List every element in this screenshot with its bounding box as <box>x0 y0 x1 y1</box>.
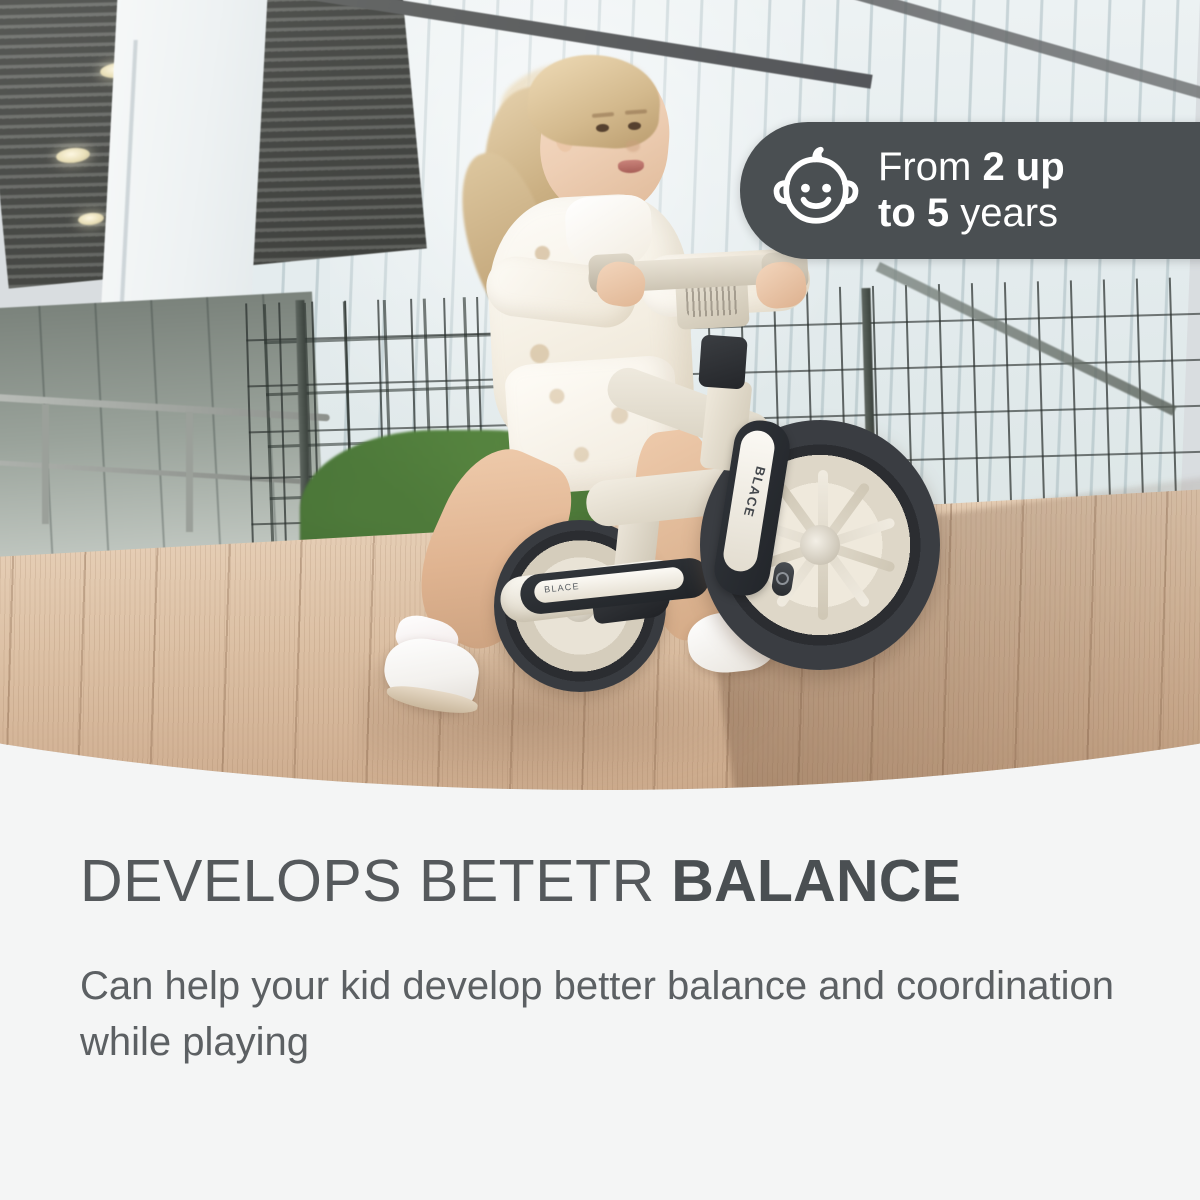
bike-head-tube <box>698 334 748 389</box>
page-title: DEVELOPS BETETR BALANCE <box>80 852 961 911</box>
bike-front-hub <box>800 525 840 565</box>
page-subtitle: Can help your kid develop better balance… <box>80 958 1130 1070</box>
age-range-badge: From 2 up to 5 years <box>740 122 1200 259</box>
hero-photo-region: BLACE BLACE <box>0 0 1200 800</box>
balance-bike: BLACE BLACE <box>0 0 1200 800</box>
age-range-to-value: to 5 <box>878 191 949 235</box>
age-range-line-1: From 2 up <box>878 145 1065 191</box>
hero-photo-curved-mask: BLACE BLACE <box>0 0 1200 800</box>
baby-face-icon <box>768 143 864 239</box>
hero-photo: BLACE BLACE <box>0 0 1200 800</box>
text-panel: DEVELOPS BETETR BALANCE Can help your ki… <box>0 800 1200 1200</box>
headline-bold-part: BALANCE <box>655 848 961 914</box>
marketing-tile: BLACE BLACE <box>0 0 1200 1200</box>
age-range-suffix: years <box>949 191 1058 235</box>
age-range-text: From 2 up to 5 years <box>878 145 1065 236</box>
age-range-prefix: From <box>878 145 982 189</box>
age-range-from-value: 2 up <box>982 145 1064 189</box>
age-range-line-2: to 5 years <box>878 191 1065 237</box>
headline-light-part: DEVELOPS BETETR <box>80 848 655 914</box>
